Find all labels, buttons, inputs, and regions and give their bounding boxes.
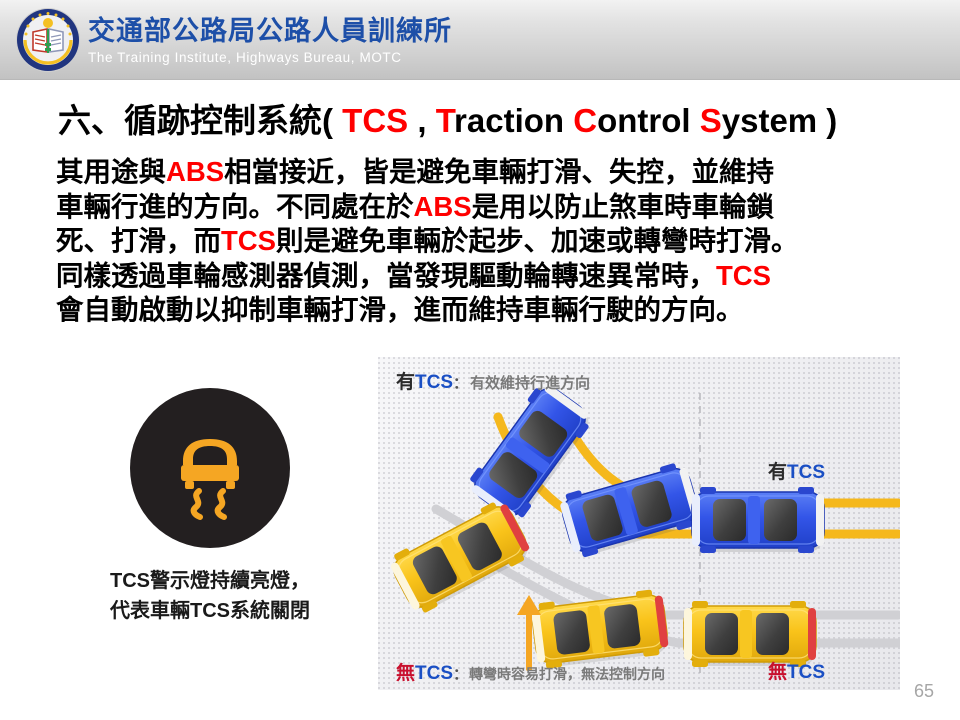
diagram-top-label-colon: ： (453, 375, 468, 392)
diagram-bottom-label-tcs: TCS (415, 663, 453, 684)
organization-name-zh: 交通部公路局公路人員訓練所 (88, 9, 452, 48)
tcs-warning-lamp-caption: TCS警示燈持續亮燈， 代表車輛TCS系統關閉 (60, 566, 360, 626)
body-line-1-segment-0: 其用途與 (56, 156, 166, 187)
diagram-illustration (378, 357, 900, 690)
slide-title-segment-4: raction (454, 102, 573, 139)
body-line-4-segment-0: 同樣透過車輪感測器偵測，當發現驅動輪轉速異常時， (56, 260, 716, 291)
diagram-top-label: 有TCS：有效維持行進方向 (396, 367, 590, 394)
diagram-top-label-description: 有效維持行進方向 (470, 375, 590, 392)
diagram-top-label-prefix: 有 (396, 372, 415, 393)
body-text-line-2: 車輛行進的方向。不同處在於ABS是用以防止煞車時車輪鎖 (56, 190, 936, 225)
lamp-caption-line-2: 代表車輛TCS系統關閉 (60, 596, 360, 626)
slide-title-segment-5: C (573, 102, 597, 139)
slide-title: 六、循跡控制系統( TCS , Traction Control System … (58, 103, 837, 139)
diagram-right-top-prefix: 有 (768, 462, 787, 483)
diagram-top-label-tcs: TCS (415, 372, 453, 393)
slide-title-segment-7: S (700, 102, 722, 139)
diagram-right-bottom-tcs: TCS (787, 662, 825, 683)
body-text-line-4: 同樣透過車輪感測器偵測，當發現驅動輪轉速異常時，TCS (56, 259, 936, 294)
slide-body-text: 其用途與ABS相當接近，皆是避免車輛打滑、失控，並維持車輛行進的方向。不同處在於… (56, 155, 936, 328)
tcs-warning-lamp-circle (130, 388, 290, 548)
slide-title-segment-2: , (408, 102, 436, 139)
lamp-caption-line-1: TCS警示燈持續亮燈， (60, 566, 360, 596)
diagram-right-top-tcs: TCS (787, 462, 825, 483)
page-number: 65 (914, 681, 934, 702)
slide-title-segment-8: ystem ) (722, 102, 838, 139)
diagram-bottom-label: 無TCS：轉彎時容易打滑，無法控制方向 (396, 658, 665, 685)
slide-title-segment-6: ontrol (597, 102, 700, 139)
training-institute-emblem-icon (14, 6, 82, 74)
body-line-2-segment-1: ABS (414, 191, 472, 222)
body-line-2-segment-2: 是用以防止煞車時車輪鎖 (472, 191, 775, 222)
diagram-right-bottom-label: 無TCS (768, 657, 825, 684)
diagram-right-bottom-prefix: 無 (768, 662, 787, 683)
body-text-line-1: 其用途與ABS相當接近，皆是避免車輛打滑、失控，並維持 (56, 155, 936, 190)
slide-title-segment-0: 六、循跡控制系統( (58, 102, 342, 139)
body-line-5-segment-0: 會自動啟動以抑制車輛打滑，進而維持車輛行駛的方向。 (56, 294, 744, 325)
body-line-3-segment-1: TCS (221, 225, 276, 256)
body-line-3-segment-0: 死、打滑，而 (56, 225, 221, 256)
slide-title-segment-1: TCS (342, 102, 408, 139)
blue-car-2 (557, 460, 702, 560)
page-header: 交通部公路局公路人員訓練所 The Training Institute, Hi… (0, 0, 960, 80)
body-line-2-segment-0: 車輛行進的方向。不同處在於 (56, 191, 414, 222)
diagram-bottom-label-prefix: 無 (396, 663, 415, 684)
body-line-1-segment-2: 相當接近，皆是避免車輛打滑、失控，並維持 (224, 156, 774, 187)
tcs-warning-lamp-block: TCS警示燈持續亮燈， 代表車輛TCS系統關閉 (60, 388, 360, 626)
diagram-bottom-label-description: 轉彎時容易打滑，無法控制方向 (469, 666, 665, 682)
body-line-1-segment-1: ABS (166, 156, 224, 187)
body-line-3-segment-2: 則是避免車輛於起步、加速或轉彎時打滑。 (276, 225, 799, 256)
diagram-right-top-label: 有TCS (768, 457, 825, 484)
body-line-4-segment-1: TCS (716, 260, 771, 291)
yellow-car-1 (386, 497, 534, 617)
tcs-skid-warning-lamp-icon (155, 413, 265, 523)
body-text-line-5: 會自動啟動以抑制車輛打滑，進而維持車輛行駛的方向。 (56, 293, 936, 328)
body-text-line-3: 死、打滑，而TCS則是避免車輛於起步、加速或轉彎時打滑。 (56, 224, 936, 259)
organization-name-en: The Training Institute, Highways Bureau,… (88, 50, 402, 65)
diagram-bottom-label-colon: ： (453, 666, 468, 683)
slide-title-segment-3: T (436, 102, 454, 139)
blue-car-3 (692, 487, 824, 553)
tcs-comparison-diagram: 有TCS：有效維持行進方向 無TCS：轉彎時容易打滑，無法控制方向 有TCS 無… (378, 357, 900, 690)
